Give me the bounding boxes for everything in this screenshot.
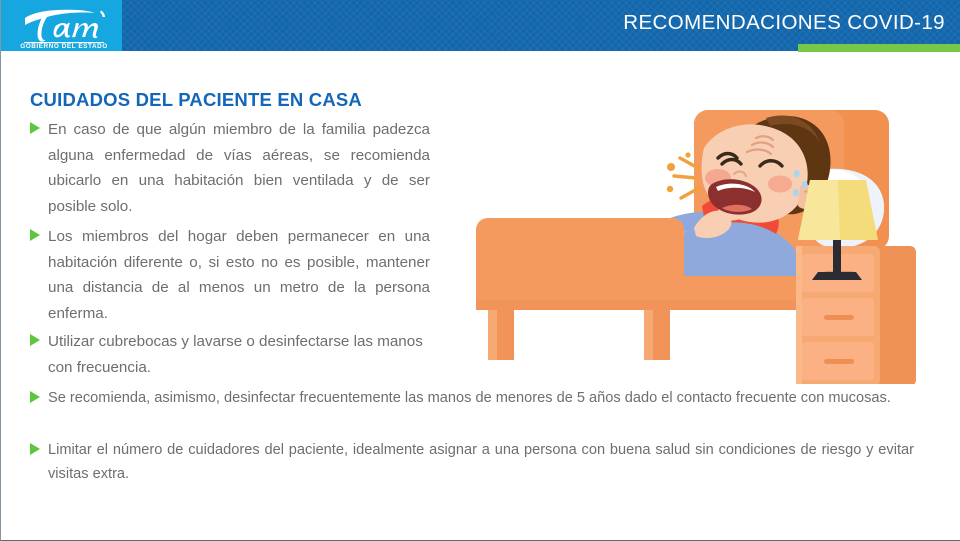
slide-header: GOBIERNO DEL ESTADO RECOMENDACIONES COVI… — [1, 0, 960, 51]
bullet-text-5: Limitar el número de cuidadores del paci… — [48, 438, 914, 486]
bullet-item-5: Limitar el número de cuidadores del paci… — [30, 438, 914, 486]
bullet-item-3: Utilizar cubrebocas y lavarse o desinfec… — [30, 329, 430, 380]
bullet-item-4: Se recomienda, asimismo, desinfectar fre… — [30, 386, 914, 410]
bullet-triangle-icon — [30, 229, 40, 241]
bullet-triangle-icon — [30, 391, 40, 403]
bullet-text-1: En caso de que algún miembro de la famil… — [48, 117, 430, 219]
bullet-triangle-icon — [30, 334, 40, 346]
slide: GOBIERNO DEL ESTADO RECOMENDACIONES COVI… — [0, 0, 960, 541]
bullet-triangle-icon — [30, 122, 40, 134]
bullet-triangle-icon — [30, 443, 40, 455]
bullet-text-2: Los miembros del hogar deben permanecer … — [48, 224, 430, 326]
bullet-item-2: Los miembros del hogar deben permanecer … — [30, 224, 430, 326]
sick-person-coughing-in-bed-illustration — [466, 88, 936, 384]
bullet-text-3: Utilizar cubrebocas y lavarse o desinfec… — [48, 329, 430, 380]
header-title: RECOMENDACIONES COVID-19 — [623, 11, 945, 35]
header-green-accent-bar — [798, 44, 960, 52]
tam-gobierno-del-estado-logo: GOBIERNO DEL ESTADO — [15, 4, 111, 48]
section-title: CUIDADOS DEL PACIENTE EN CASA — [30, 89, 362, 111]
logo-subtext: GOBIERNO DEL ESTADO — [20, 43, 108, 48]
bullet-item-1: En caso de que algún miembro de la famil… — [30, 117, 430, 219]
bullet-text-4: Se recomienda, asimismo, desinfectar fre… — [48, 386, 891, 410]
